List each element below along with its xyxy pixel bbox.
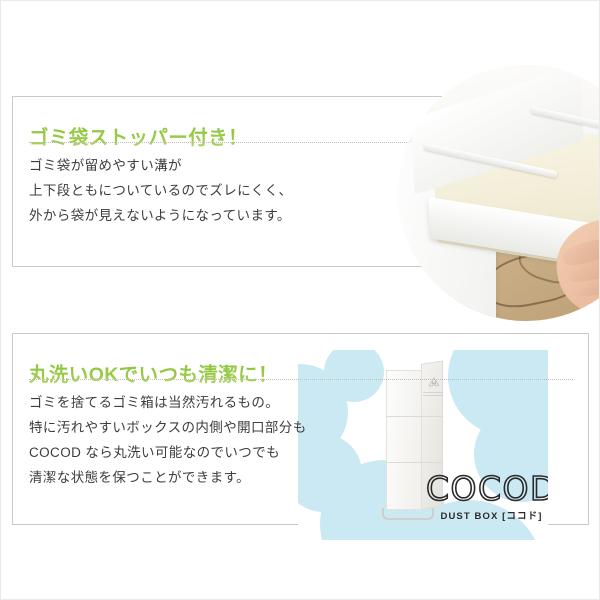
body-line: COCOD なら丸洗い可能なのでいつでも (29, 440, 307, 465)
dust-box-front-panel (386, 370, 422, 510)
drawer-pullout-photo (398, 65, 600, 321)
cocod-logo-subtitle: DUST BOX [ココド] (426, 508, 548, 522)
dust-box-text-label (423, 392, 443, 398)
body-line: ゴミ袋が留めやすい溝が (29, 153, 292, 178)
bubble-decoration (324, 350, 384, 402)
advertisement-page: ゴミ袋ストッパー付き！ ゴミ袋が留めやすい溝が 上下段ともについているのでズレに… (0, 0, 600, 600)
body-line: 上下段ともについているのでズレにくく、 (29, 178, 292, 203)
panel-washable-heading: 丸洗いOKでいつも清潔に！ (29, 364, 278, 386)
body-line: ゴミを捨てるゴミ箱は当然汚れるもの。 (29, 390, 307, 415)
cocod-logo-wordmark: COCOD (426, 472, 548, 505)
body-line: 外から袋が見えないようになっています。 (29, 203, 292, 228)
panel-washable-body: ゴミを捨てるゴミ箱は当然汚れるもの。 特に汚れやすいボックスの内側や開口部分も … (29, 390, 307, 490)
panel-stopper-heading: ゴミ袋ストッパー付き！ (29, 127, 248, 149)
panel-washable-divider (29, 379, 573, 381)
photo-scene (398, 65, 600, 321)
cocod-logo: COCOD DUST BOX [ココド] (426, 472, 548, 522)
dust-box-tier-seam (386, 416, 443, 417)
panel-stopper-body: ゴミ袋が留めやすい溝が 上下段ともについているのでズレにくく、 外から袋が見えな… (29, 153, 292, 228)
body-line: 特に汚れやすいボックスの内側や開口部分も (29, 415, 307, 440)
body-line: 清潔な状態を保つことができます。 (29, 465, 307, 490)
feature-panel-washable: COCOD DUST BOX [ココド] 丸洗いOKでいつも清潔に！ ゴミを捨て… (12, 333, 589, 525)
dust-box-tier-seam (386, 462, 443, 463)
